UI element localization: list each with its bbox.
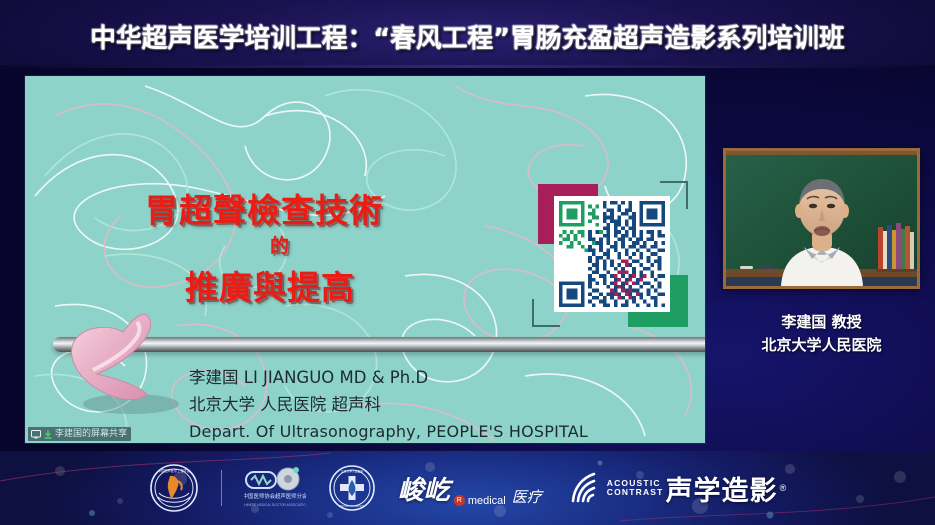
cmaa-wave-disc-logo-icon: 中国医师协会超声医师分会 CHINESE MEDICAL DOCTOR ASSO…: [244, 464, 306, 512]
acoustic-contrast-wordmark: ACOUSTIC CONTRAST: [607, 479, 664, 497]
acoustic-cn-wordmark: 声学造影: [666, 469, 778, 508]
acoustic-line-2: CONTRAST: [607, 488, 664, 497]
china-ultrasound-emblem-icon: 中国超声医学工程学会: [149, 463, 199, 513]
presenter-affiliation-en-1: Depart. Of Ultrasonography, PEOPLE'S HOS…: [189, 418, 588, 443]
speaker-name: 李建国 教授: [723, 311, 920, 334]
presenter-affiliation-cn: 北京大学 人民医院 超声科: [189, 391, 588, 418]
sponsor-logo-bar: 中国超声医学工程学会 中国医师协会超声医师分会 CHINESE MEDICAL …: [0, 451, 935, 525]
download-arrow-icon: [44, 430, 52, 439]
junyi-medical-logo: 峻屹 R medical 医疗: [398, 470, 542, 507]
screen-share-indicator: 李建国的屏幕共享: [28, 427, 131, 441]
svg-text:北京大学人民医院: 北京大学人民医院: [341, 470, 364, 474]
qr-code-icon[interactable]: [554, 196, 670, 312]
qr-code-block[interactable]: [530, 176, 690, 331]
acoustic-reg-mark: ®: [780, 483, 787, 493]
svg-text:中国超声医学工程学会: 中国超声医学工程学会: [158, 468, 191, 473]
presenter-info: 李建国 LI JIANGUO MD & Ph.D 北京大学 人民医院 超声科 D…: [189, 364, 588, 443]
screen-share-label: 李建国的屏幕共享: [55, 430, 127, 439]
hospital-cross-emblem-icon: 北京大学人民医院 PEKING UNIVERSITY: [328, 464, 376, 512]
presenter-name-line: 李建国 LI JIANGUO MD & Ph.D: [189, 364, 588, 391]
decorative-boomerang-shape: [67, 312, 189, 416]
junyi-reg-mark: R: [454, 495, 465, 506]
acoustic-wave-icon: [564, 468, 604, 508]
logo-divider: [221, 470, 222, 506]
screen-share-window: 中华超声医学培训工程：“春风工程”胃肠充盈超声造影系列培训班: [0, 0, 935, 525]
junyi-medical-label: R medical: [454, 495, 506, 507]
event-title: 中华超声医学培训工程：“春风工程”胃肠充盈超声造影系列培训班: [5, 18, 931, 55]
slide-title-sub: 推廣與提高: [185, 261, 355, 309]
presentation-stage: 胃超聲檢查技術 的 推廣與提高: [0, 68, 935, 451]
speaker-video-panel[interactable]: 李建国 教授 北京大学人民医院: [723, 148, 920, 403]
svg-text:PEKING UNIVERSITY: PEKING UNIVERSITY: [339, 504, 365, 508]
slide-title-particle: 的: [270, 231, 290, 258]
junyi-medical-text: medical: [468, 495, 506, 507]
speaker-caption: 李建国 教授 北京大学人民医院: [723, 311, 920, 357]
logo-row: 中国超声医学工程学会 中国医师协会超声医师分会 CHINESE MEDICAL …: [0, 451, 935, 525]
junyi-cn-wordmark: 峻屹: [398, 470, 450, 507]
speaker-video-feed: [726, 151, 917, 286]
slide-title-main: 胃超聲檢查技術: [145, 184, 383, 232]
speaker-video-frame[interactable]: [723, 148, 920, 289]
junyi-yiliao-text: 医疗: [512, 486, 542, 507]
speaker-institution: 北京大学人民医院: [723, 334, 920, 357]
monitor-icon: [31, 430, 41, 439]
shared-slide[interactable]: 胃超聲檢查技術 的 推廣與提高: [25, 76, 705, 443]
qr-matrix: [559, 201, 665, 307]
event-header-banner: 中华超声医学培训工程：“春风工程”胃肠充盈超声造影系列培训班: [0, 0, 935, 68]
svg-text:CHINESE MEDICAL DOCTOR ASSOCIA: CHINESE MEDICAL DOCTOR ASSOCIATION: [244, 503, 306, 507]
svg-text:中国医师协会超声医师分会: 中国医师协会超声医师分会: [244, 492, 306, 500]
acoustic-contrast-logo: ACOUSTIC CONTRAST 声学造影 ®: [564, 468, 786, 508]
